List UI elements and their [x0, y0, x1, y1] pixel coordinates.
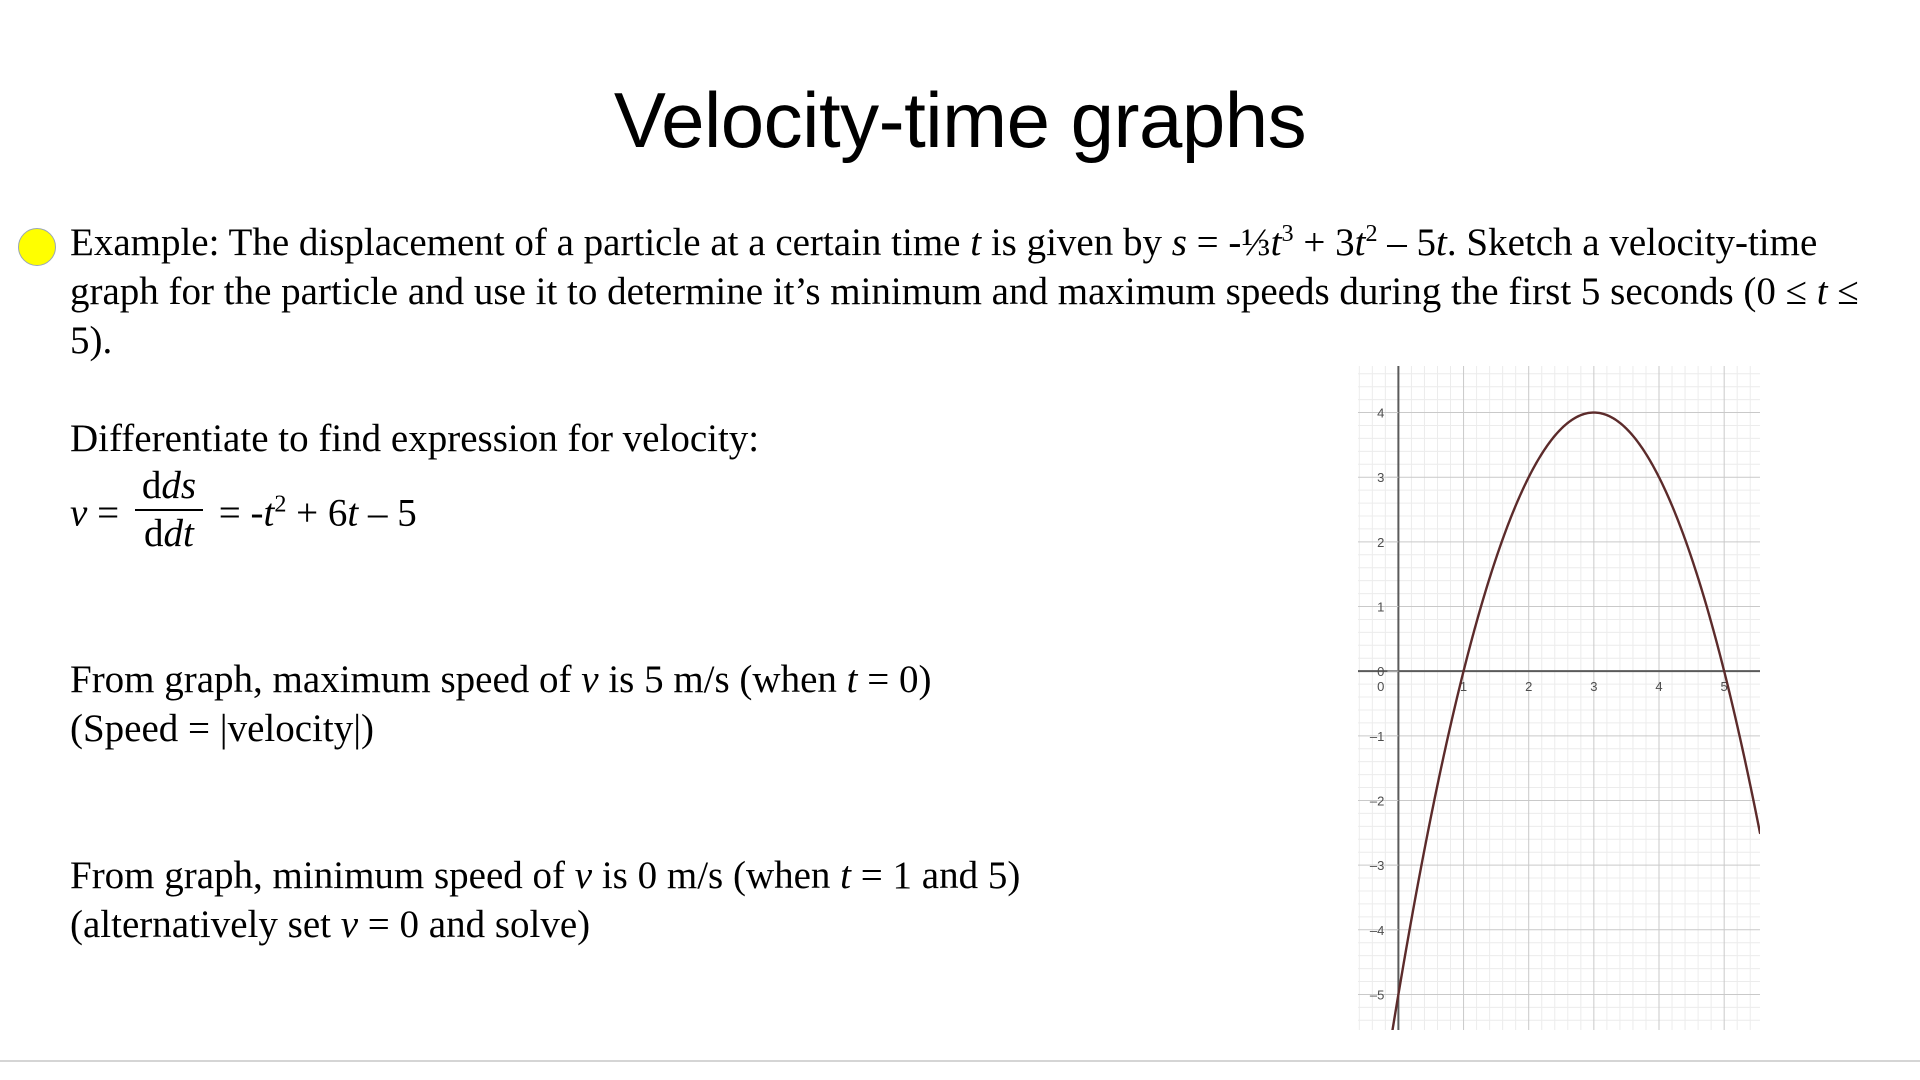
numerator-var-s: ds [161, 464, 196, 507]
max-text-b: is 5 m/s (when [599, 658, 847, 701]
fraction-denominator: ddt [135, 511, 203, 557]
y-tick-label: –2 [1370, 793, 1384, 808]
exponent-2: 2 [1365, 220, 1377, 247]
min-var-v: v [575, 854, 592, 897]
min-var-t: t [840, 854, 851, 897]
y-tick-label: –1 [1370, 729, 1384, 744]
alt-text-a: (alternatively set [70, 903, 341, 946]
rhs-plus-6: + 6 [286, 492, 347, 535]
y-tick-label: 2 [1377, 535, 1384, 550]
eq-s-minus: – 5 [1378, 221, 1437, 264]
rhs-exponent-2: 2 [274, 491, 286, 518]
graph-background [1358, 366, 1760, 1030]
x-tick-label: 3 [1590, 679, 1597, 694]
x-tick-label: 4 [1655, 679, 1662, 694]
page-title: Velocity-time graphs [0, 78, 1920, 162]
x-tick-label: 2 [1525, 679, 1532, 694]
slide-bottom-divider [0, 1060, 1920, 1062]
y-tick-label: 0 [1377, 664, 1384, 679]
max-var-v: v [581, 658, 598, 701]
example-paragraph: Example: The displacement of a particle … [70, 218, 1860, 365]
x-tick-label-origin: 0 [1377, 679, 1384, 694]
eq-s-equals: = -⅓ [1187, 221, 1271, 264]
ds-dt-fraction: ddsddt [135, 463, 203, 557]
rhs-var-t: t [347, 492, 358, 535]
y-tick-label: –3 [1370, 858, 1384, 873]
var-t: t [970, 221, 981, 264]
y-tick-label: 3 [1377, 470, 1384, 485]
max-text-c: = 0) [857, 658, 931, 701]
var-t-linear: t [1436, 221, 1447, 264]
velocity-time-graph: 43210–1–2–3–4–5 012345 [1358, 366, 1760, 1030]
min-text-a: From graph, minimum speed of [70, 854, 575, 897]
rhs-var-t-squared: t [263, 492, 274, 535]
example-text-a: Example: The displacement of a particle … [70, 221, 970, 264]
y-tick-label: –4 [1370, 923, 1384, 938]
max-var-t: t [847, 658, 858, 701]
slide-canvas: Velocity-time graphs Example: The displa… [0, 0, 1920, 1080]
y-tick-label: 1 [1377, 600, 1384, 615]
v-rhs-equals: = - [209, 492, 263, 535]
y-tick-label: 4 [1377, 406, 1384, 421]
var-v: v [70, 492, 87, 535]
v-equals: = [87, 492, 129, 535]
max-text-a: From graph, maximum speed of [70, 658, 581, 701]
alt-text-b: = 0 and solve) [358, 903, 590, 946]
exponent-3: 3 [1282, 220, 1294, 247]
var-t-cubed-base: t [1271, 221, 1282, 264]
var-t-squared-base: t [1355, 221, 1366, 264]
example-text-b: is given by [981, 221, 1172, 264]
min-text-c: = 1 and 5) [851, 854, 1020, 897]
graph-svg: 43210–1–2–3–4–5 012345 [1358, 366, 1760, 1030]
rhs-minus-5: – 5 [358, 492, 417, 535]
denominator-var-t: dt [163, 512, 193, 555]
fraction-numerator: dds [135, 463, 203, 511]
alt-var-v: v [341, 903, 358, 946]
y-tick-label: –5 [1370, 987, 1384, 1002]
yellow-circle-bullet-icon [18, 228, 56, 266]
eq-s-plus: + 3 [1294, 221, 1355, 264]
var-s: s [1172, 221, 1187, 264]
var-t-inequality: t [1817, 270, 1828, 313]
min-text-b: is 0 m/s (when [592, 854, 840, 897]
